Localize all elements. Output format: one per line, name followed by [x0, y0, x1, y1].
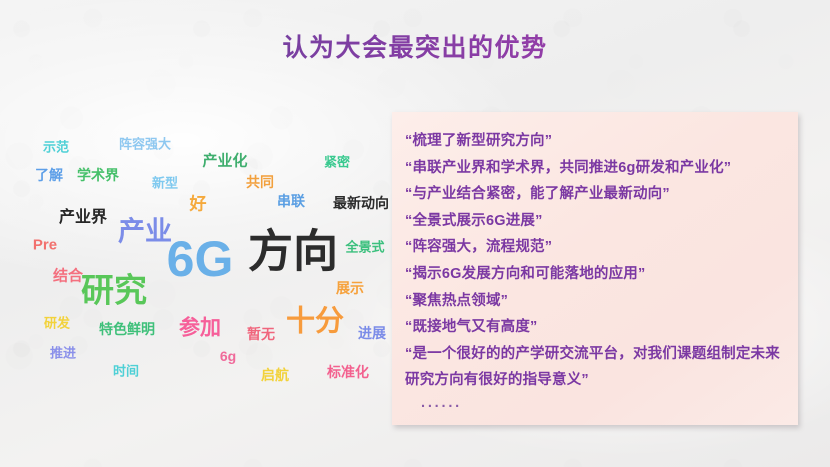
word-cloud-term: 好 — [190, 196, 207, 213]
quote-line: “全景式展示6G进展” — [405, 208, 790, 235]
quote-line: “与产业结合紧密，能了解产业最新动向” — [405, 181, 790, 208]
word-cloud-term: 十分 — [286, 308, 344, 337]
slide-canvas: 认为大会最突出的优势 示范阵容强大产业化了解学术界新型共同紧密串联最新动向好产业… — [0, 0, 830, 467]
word-cloud-term: 进展 — [358, 326, 386, 340]
word-cloud-term: 新型 — [152, 177, 178, 190]
word-cloud-term: Pre — [33, 238, 57, 253]
word-cloud-term: 启航 — [261, 368, 289, 382]
word-cloud-term: 特色鲜明 — [99, 322, 155, 336]
word-cloud-term: 推进 — [50, 347, 76, 360]
quote-line: “梳理了新型研究方向” — [405, 128, 790, 155]
quote-line: “既接地气又有高度” — [405, 314, 790, 341]
quote-line: “阵容强大，流程规范” — [405, 234, 790, 261]
word-cloud-term: 研究 — [81, 274, 147, 307]
word-cloud-term: 6G — [167, 234, 234, 284]
word-cloud-term: 串联 — [277, 194, 305, 208]
word-cloud-term: 共同 — [246, 175, 274, 189]
word-cloud-term: 紧密 — [324, 156, 350, 169]
quote-line: “是一个很好的的产学研交流平台，对我们课题组制定未来研究方向有很好的指导意义” — [405, 341, 790, 394]
word-cloud-term: 最新动向 — [333, 196, 389, 210]
word-cloud-term: 6g — [220, 349, 236, 363]
word-cloud-term: 产业界 — [59, 210, 107, 226]
quote-line: “聚焦热点领域” — [405, 288, 790, 315]
quotes-ellipsis: ······ — [405, 394, 790, 421]
quote-line: “揭示6G发展方向和可能落地的应用” — [405, 261, 790, 288]
word-cloud-term: 暂无 — [247, 327, 275, 341]
word-cloud-term: 学术界 — [77, 168, 119, 182]
word-cloud-term: 展示 — [336, 281, 364, 295]
word-cloud-term: 时间 — [113, 365, 139, 378]
word-cloud: 示范阵容强大产业化了解学术界新型共同紧密串联最新动向好产业界产业Pre6G方向全… — [10, 125, 385, 405]
word-cloud-term: 方向 — [248, 229, 338, 274]
word-cloud-term: 标准化 — [327, 365, 369, 379]
quote-line: “串联产业界和学术界，共同推进6g研发和产业化” — [405, 155, 790, 182]
word-cloud-term: 阵容强大 — [119, 138, 171, 151]
word-cloud-term: 产业 — [118, 219, 172, 246]
word-cloud-term: 结合 — [53, 269, 83, 284]
word-cloud-term: 产业化 — [202, 154, 247, 169]
quotes-list: “梳理了新型研究方向”“串联产业界和学术界，共同推进6g研发和产业化”“与产业结… — [405, 128, 790, 421]
page-title: 认为大会最突出的优势 — [0, 33, 830, 63]
word-cloud-term: 示范 — [43, 141, 69, 154]
quotes-panel: “梳理了新型研究方向”“串联产业界和学术界，共同推进6g研发和产业化”“与产业结… — [392, 112, 798, 425]
word-cloud-term: 全景式 — [345, 241, 384, 254]
word-cloud-term: 研发 — [44, 317, 70, 330]
word-cloud-term: 了解 — [35, 168, 63, 182]
word-cloud-term: 参加 — [179, 318, 221, 339]
